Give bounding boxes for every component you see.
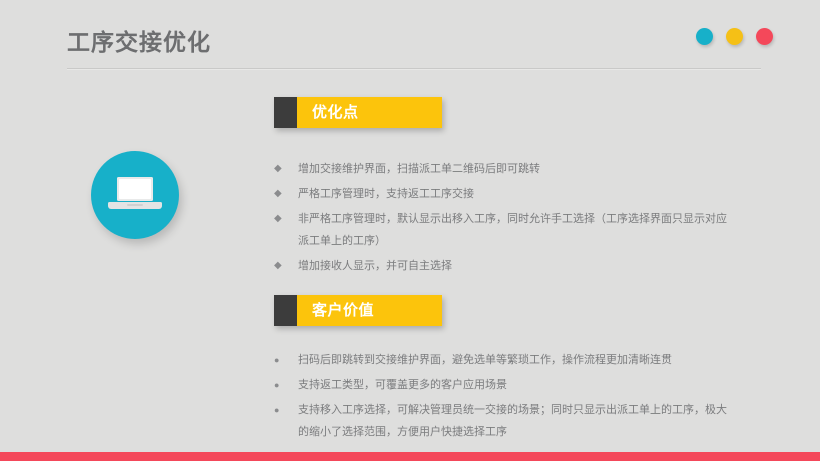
diamond-bullet-icon: ◆ (274, 208, 298, 230)
banner-tab (274, 97, 297, 128)
laptop-trackpad (127, 204, 143, 206)
laptop-screen-inner (119, 179, 151, 199)
banner-tab (274, 295, 297, 326)
list-item: ◆ 增加交接维护界面，扫描派工单二维码后即可跳转 (274, 158, 744, 180)
content-column: 优化点 ◆ 增加交接维护界面，扫描派工单二维码后即可跳转 ◆ 严格工序管理时，支… (274, 97, 744, 446)
banner-body: 优化点 (297, 97, 442, 128)
dot-cyan-icon (696, 28, 713, 45)
banner-body: 客户价值 (297, 295, 442, 326)
list-item: ◆ 非严格工序管理时，默认显示出移入工序，同时允许手工选择（工序选择界面只显示对… (274, 208, 744, 252)
slide-canvas: 工序交接优化 优化点 ◆ 增加交接维护界面，扫描派工单二维码后即可跳转 (0, 0, 820, 461)
list-item: ◆ 增加接收人显示，并可自主选择 (274, 255, 744, 277)
section-banner-customer-value: 客户价值 (274, 295, 442, 326)
list-item-text: 严格工序管理时，支持返工工序交接 (298, 183, 730, 205)
round-bullet-icon: ● (274, 399, 298, 421)
decorative-dot-group (696, 28, 773, 45)
laptop-icon-badge (91, 151, 179, 239)
section-title-optimization: 优化点 (312, 105, 359, 120)
list-item-text: 支持移入工序选择，可解决管理员统一交接的场景；同时只显示出派工单上的工序，极大的… (298, 399, 730, 443)
list-item: ● 扫码后即跳转到交接维护界面，避免选单等繁琐工作，操作流程更加清晰连贯 (274, 349, 744, 371)
bullet-list-optimization: ◆ 增加交接维护界面，扫描派工单二维码后即可跳转 ◆ 严格工序管理时，支持返工工… (274, 158, 744, 277)
diamond-bullet-icon: ◆ (274, 255, 298, 277)
list-item-text: 增加交接维护界面，扫描派工单二维码后即可跳转 (298, 158, 730, 180)
list-item-text: 支持返工类型，可覆盖更多的客户应用场景 (298, 374, 730, 396)
list-item-text: 增加接收人显示，并可自主选择 (298, 255, 730, 277)
round-bullet-icon: ● (274, 374, 298, 396)
list-item: ● 支持返工类型，可覆盖更多的客户应用场景 (274, 374, 744, 396)
laptop-icon (108, 177, 162, 213)
list-item: ◆ 严格工序管理时，支持返工工序交接 (274, 183, 744, 205)
list-item: ● 支持移入工序选择，可解决管理员统一交接的场景；同时只显示出派工单上的工序，极… (274, 399, 744, 443)
bullet-list-customer-value: ● 扫码后即跳转到交接维护界面，避免选单等繁琐工作，操作流程更加清晰连贯 ● 支… (274, 349, 744, 443)
diamond-bullet-icon: ◆ (274, 183, 298, 205)
diamond-bullet-icon: ◆ (274, 158, 298, 180)
section-banner-optimization: 优化点 (274, 97, 442, 128)
round-bullet-icon: ● (274, 349, 298, 371)
list-item-text: 非严格工序管理时，默认显示出移入工序，同时允许手工选择（工序选择界面只显示对应派… (298, 208, 730, 252)
page-title: 工序交接优化 (67, 27, 211, 57)
list-item-text: 扫码后即跳转到交接维护界面，避免选单等繁琐工作，操作流程更加清晰连贯 (298, 349, 730, 371)
laptop-screen (117, 177, 153, 201)
header-divider (67, 68, 761, 70)
section-title-customer-value: 客户价值 (312, 303, 374, 318)
dot-red-icon (756, 28, 773, 45)
footer-accent-bar (0, 452, 820, 461)
dot-yellow-icon (726, 28, 743, 45)
